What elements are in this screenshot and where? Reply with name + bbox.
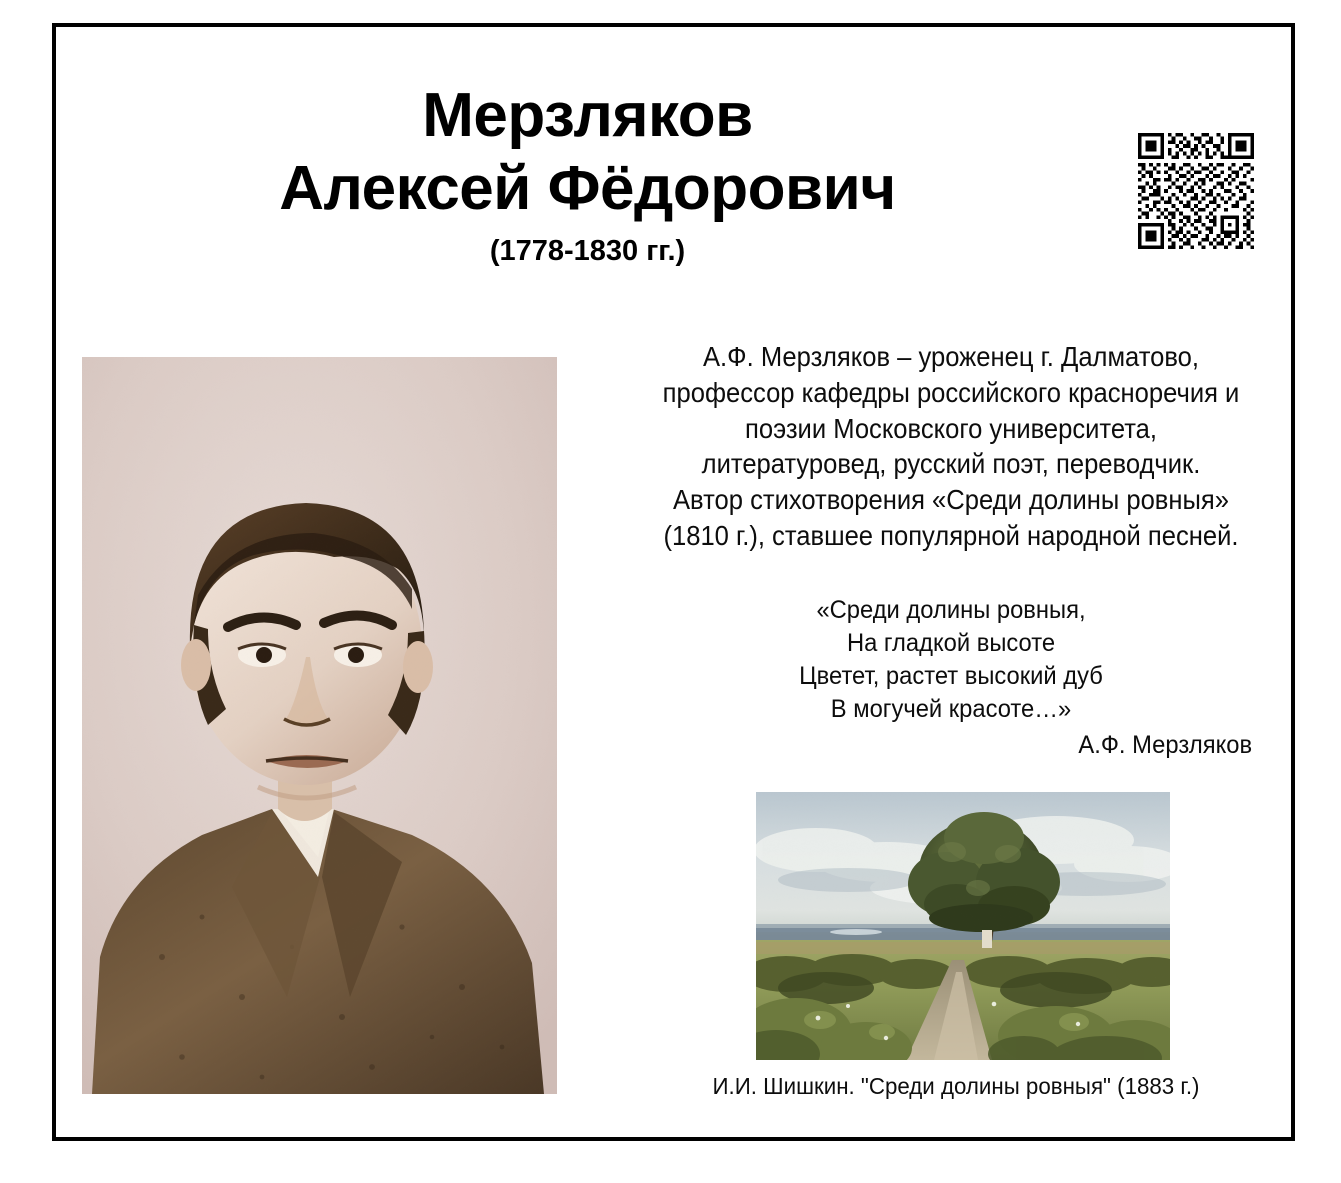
page-title: Мерзляков Алексей Фёдорович (1778-1830 г…: [56, 79, 1119, 268]
portrait-image: [82, 357, 557, 1094]
qr-code-icon[interactable]: [1134, 126, 1258, 256]
bio-line: (1810 г.), ставшее популярной народной п…: [649, 518, 1254, 554]
poem-line: «Среди долины ровныя,: [642, 594, 1260, 627]
bio-line: Автор стихотворения «Среди долины ровныя…: [649, 482, 1254, 518]
bio-line: А.Ф. Мерзляков – уроженец г. Далматово,: [649, 339, 1254, 375]
portrait-illustration: [82, 357, 557, 1094]
poem-quote: «Среди долины ровныя, На гладкой высоте …: [642, 594, 1260, 762]
qr-code-svg: [1134, 126, 1258, 256]
biography-paragraph: А.Ф. Мерзляков – уроженец г. Далматово, …: [649, 339, 1254, 554]
poem-line: На гладкой высоте: [642, 627, 1260, 660]
bio-line: поэзии Московского университета,: [649, 411, 1254, 447]
poem-attribution: А.Ф. Мерзляков: [642, 729, 1260, 762]
painting-illustration: [756, 792, 1170, 1060]
poem-line: Цветет, растет высокий дуб: [642, 660, 1260, 693]
painting-caption: И.И. Шишкин. "Среди долины ровныя" (1883…: [636, 1073, 1276, 1100]
bio-line: литературовед, русский поэт, переводчик.: [649, 446, 1254, 482]
bio-line: профессор кафедры российского красноречи…: [649, 375, 1254, 411]
right-content-column: А.Ф. Мерзляков – уроженец г. Далматово, …: [626, 339, 1276, 762]
painting-image: [756, 792, 1170, 1060]
slide-frame: Мерзляков Алексей Фёдорович (1778-1830 г…: [52, 23, 1295, 1141]
poem-line: В могучей красоте…»: [642, 693, 1260, 726]
title-dates: (1778-1830 гг.): [56, 235, 1119, 268]
title-surname: Мерзляков: [56, 79, 1119, 152]
title-given-name: Алексей Фёдорович: [56, 152, 1119, 225]
